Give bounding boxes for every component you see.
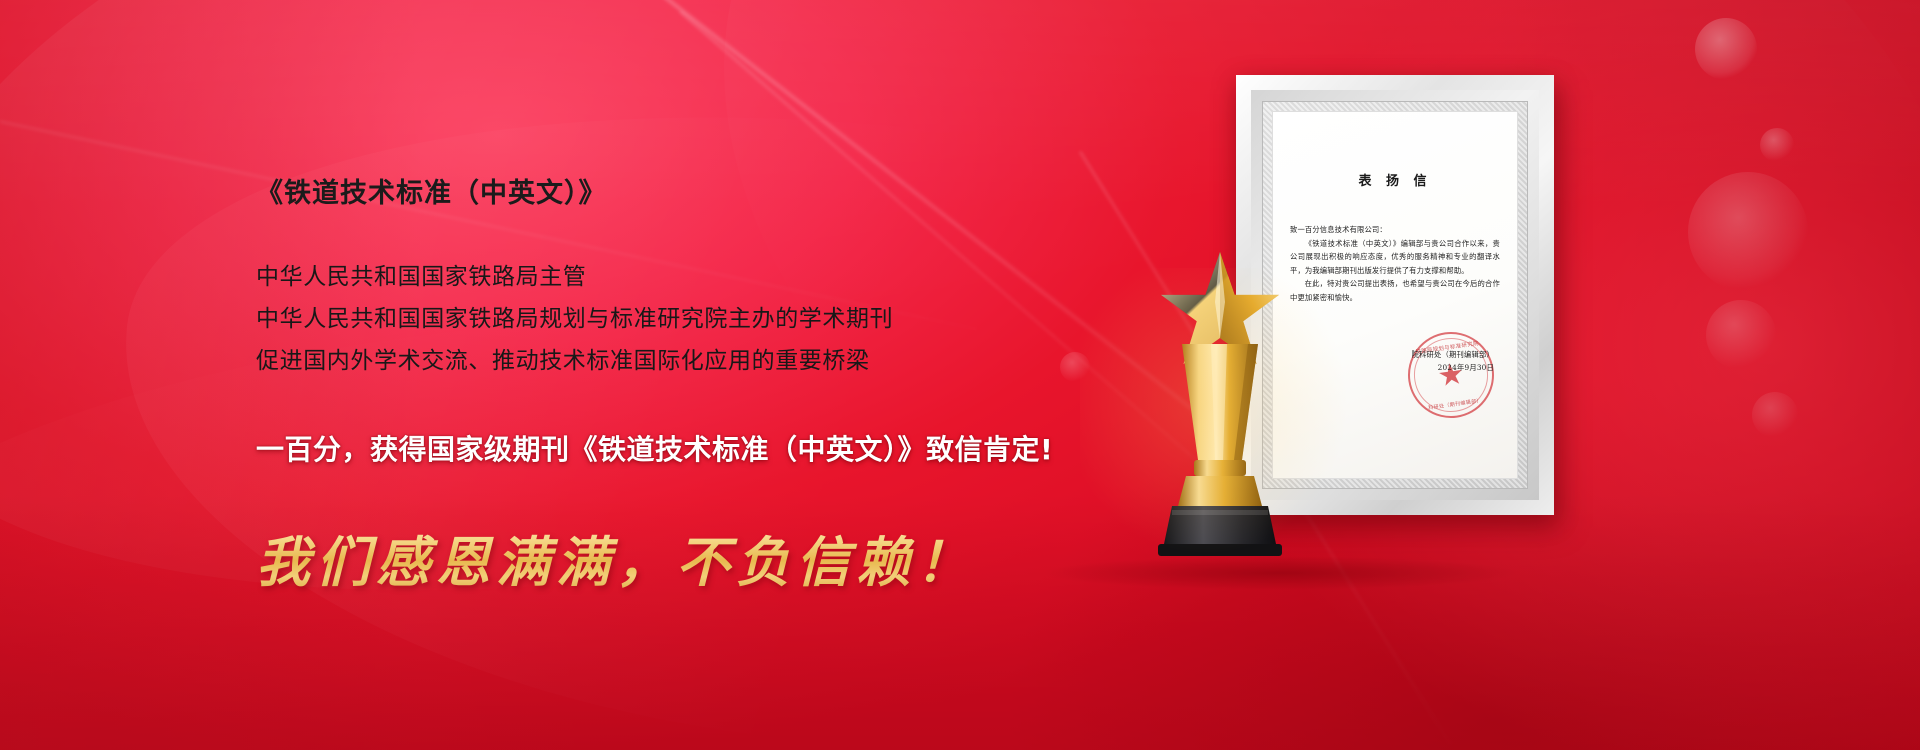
signature-date: 2024年9月30日	[1412, 361, 1494, 374]
promo-banner: 《铁道技术标准（中英文）》 中华人民共和国国家铁路局主管 中华人民共和国国家铁路…	[0, 0, 1920, 750]
journal-description-line-3: 促进国内外学术交流、推动技术标准国际化应用的重要桥梁	[256, 340, 1176, 382]
journal-description-line-2: 中华人民共和国国家铁路局规划与标准研究院主办的学术期刊	[256, 298, 1176, 340]
journal-description-line-1: 中华人民共和国国家铁路局主管	[256, 256, 1176, 298]
journal-description-list: 中华人民共和国国家铁路局主管 中华人民共和国国家铁路局规划与标准研究院主办的学术…	[256, 256, 1176, 382]
certificate-title: 表 扬 信	[1273, 170, 1517, 189]
certificate-signature: 院科研处（期刊编辑部） 2024年9月30日	[1412, 348, 1494, 374]
certificate-salutation: 致一百分信息技术有限公司：	[1290, 223, 1500, 237]
headline-text-block: 《铁道技术标准（中英文）》 中华人民共和国国家铁路局主管 中华人民共和国国家铁路…	[256, 178, 1176, 597]
official-seal-icon: 铁路局规划与标准研究院 科研处（期刊编辑部）	[1402, 326, 1499, 423]
journal-title: 《铁道技术标准（中英文）》	[256, 178, 1176, 210]
trophy-glow	[1080, 268, 1360, 568]
star-trophy-icon	[1110, 248, 1330, 568]
award-headline: 一百分，获得国家级期刊《铁道技术标准（中英文）》致信肯定!	[256, 428, 1176, 468]
signature-organization: 院科研处（期刊编辑部）	[1412, 348, 1494, 361]
gratitude-slogan: 我们感恩满满，不负信赖！	[256, 518, 1176, 597]
